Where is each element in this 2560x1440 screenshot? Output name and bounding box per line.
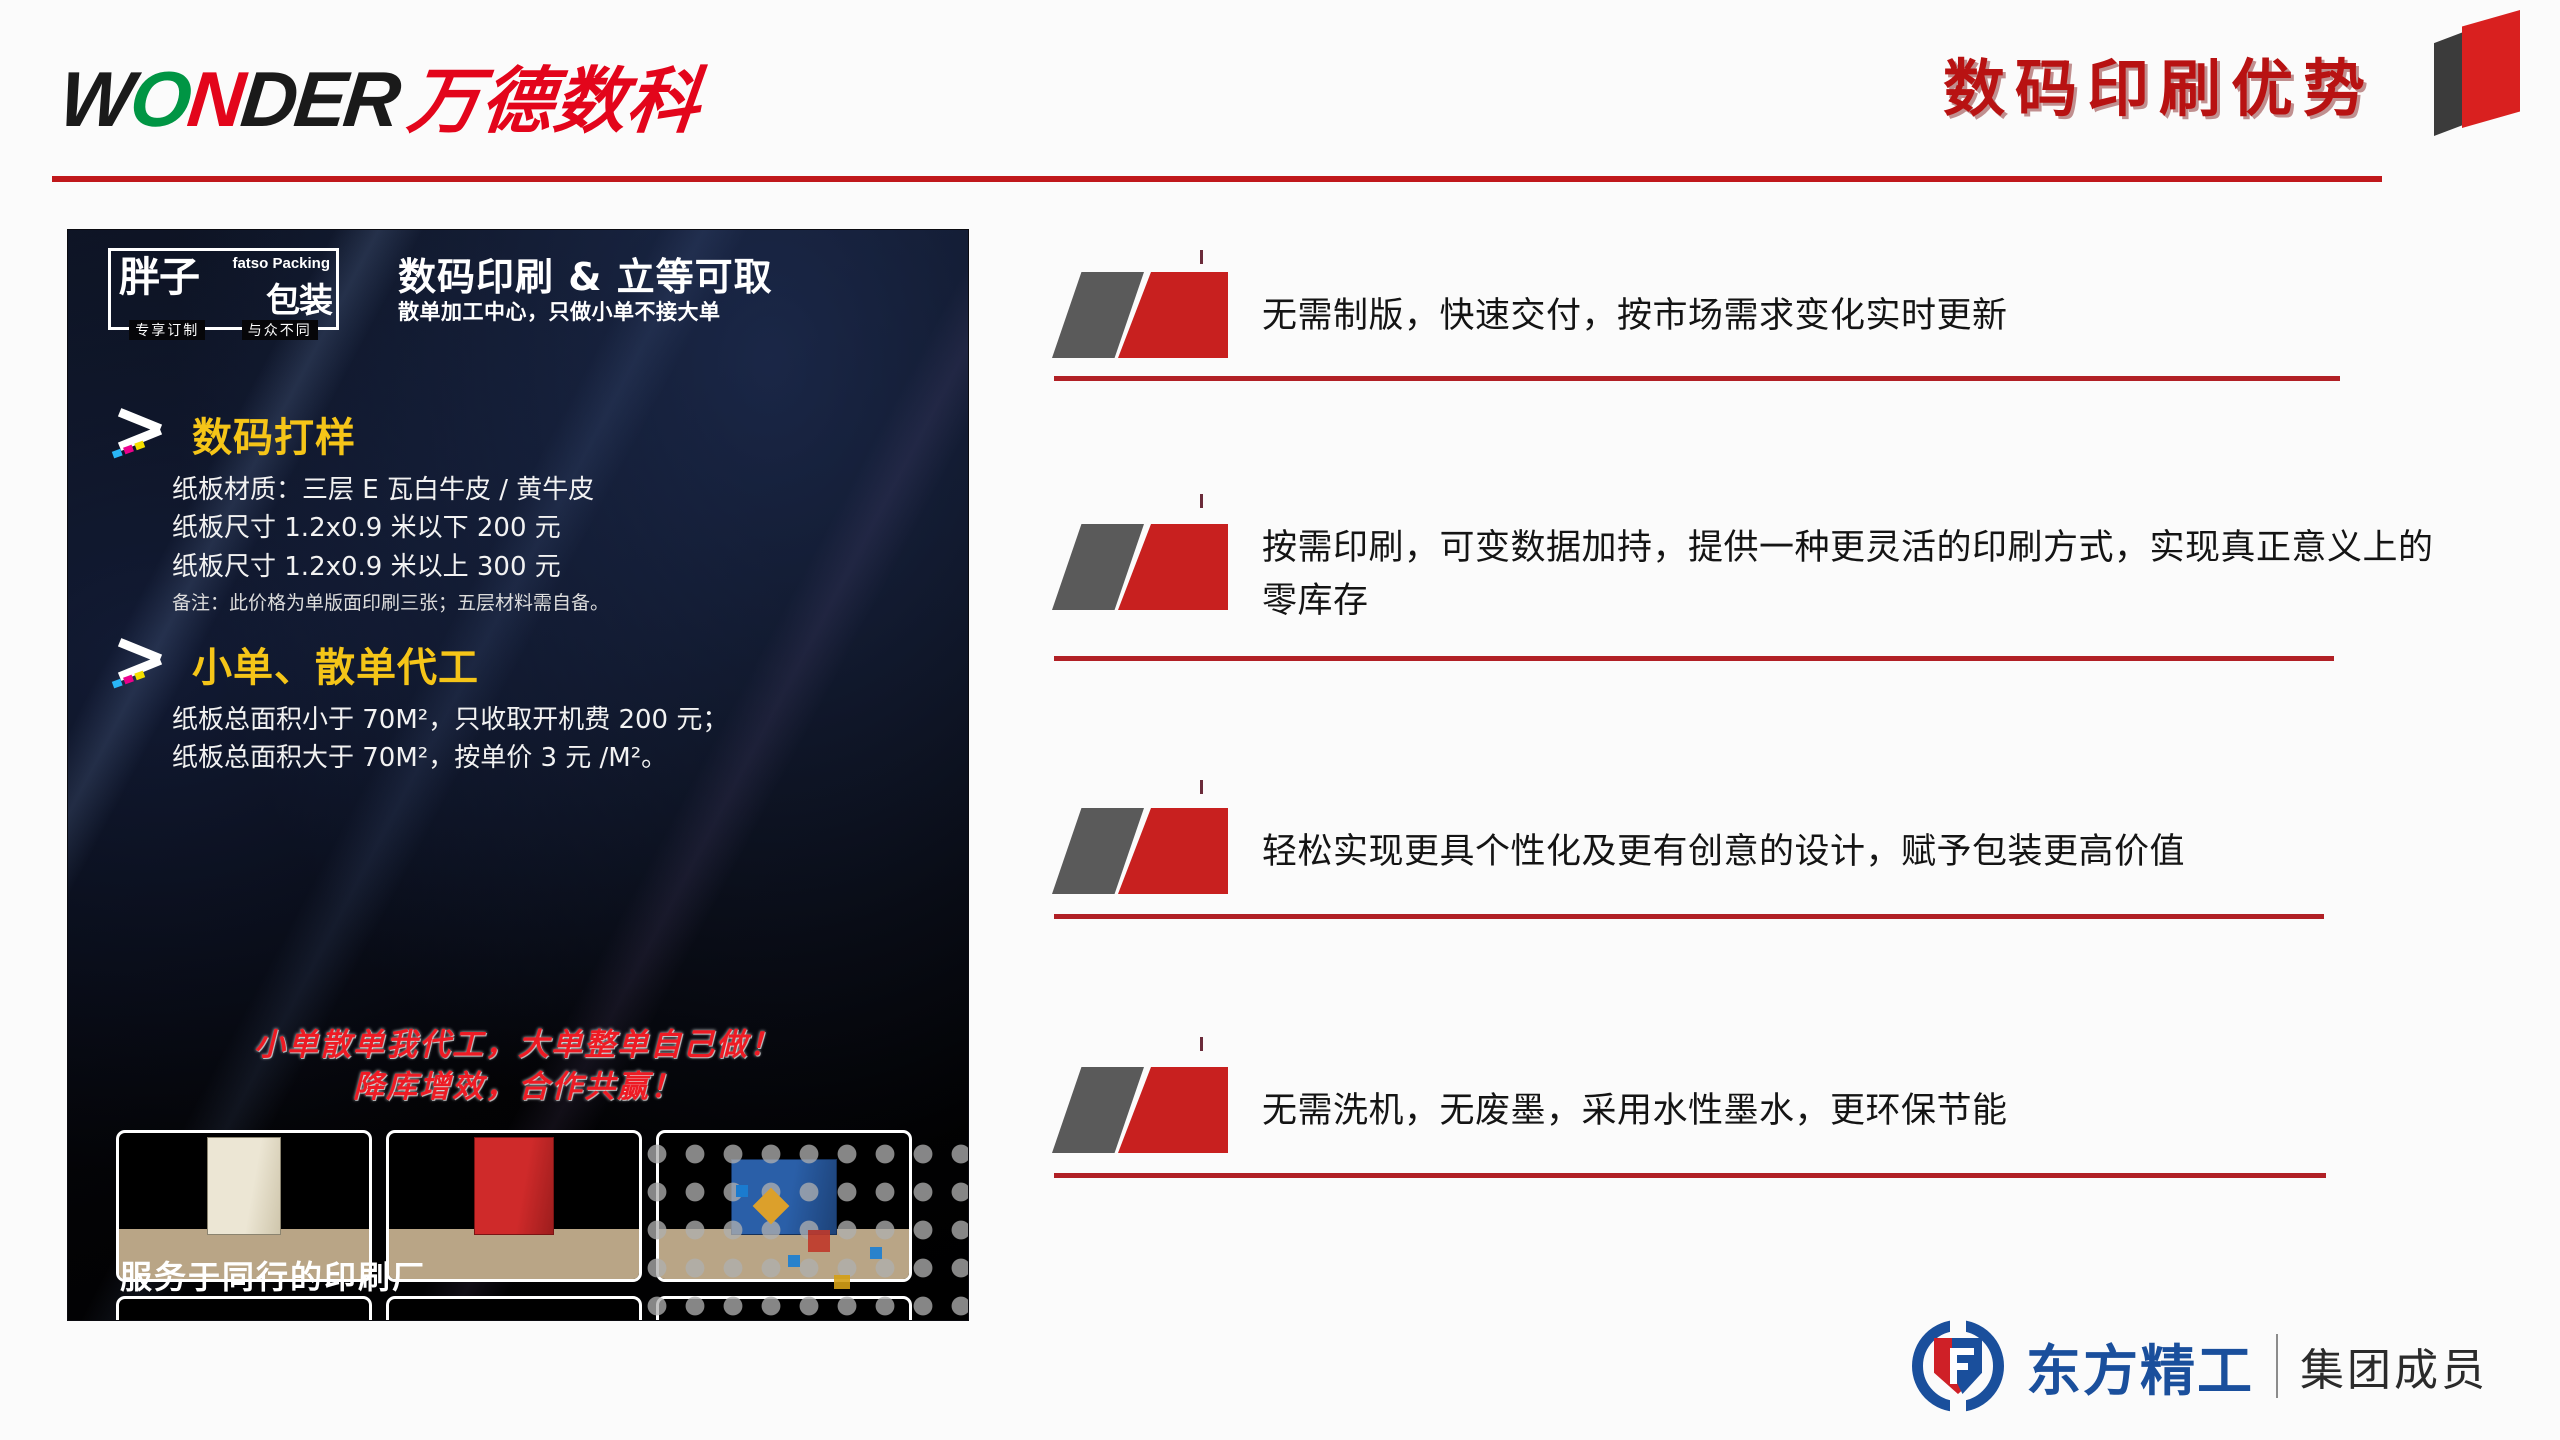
slide-root: WONDER 万德数科 数码印刷优势 胖子 fatso Packing 包装 专… [0,0,2560,1440]
dongfang-shield-icon [1912,1320,2004,1412]
advantage-underline [1054,1173,2326,1178]
fatso-logo-taglines: 专享订制 与众不同 [111,320,336,340]
promo-poster: 胖子 fatso Packing 包装 专享订制 与众不同 数码印刷 & 立等可… [68,230,968,1320]
bullet-tick-icon [1200,1037,1203,1051]
section-line: 纸板总面积大于 70M²，按单价 3 元 /M²。 [172,739,728,777]
advantage-text: 按需印刷，可变数据加持，提供一种更灵活的印刷方式，实现真正意义上的零库存 [1262,522,2442,628]
section-lines: 纸板材质：三层 E 瓦白牛皮 / 黄牛皮 纸板尺寸 1.2x0.9 米以下 20… [172,471,609,586]
corner-mark-front [2462,10,2520,128]
chevron-marker-icon [1052,524,1252,610]
fatso-logo-english: fatso Packing [232,255,330,272]
chevron-marker-icon [1052,1067,1252,1153]
fatso-tag-right: 与众不同 [242,320,318,340]
poster-section-small-order-oem: 小单、散单代工 纸板总面积小于 70M²，只收取开机费 200 元； 纸板总面积… [110,635,728,778]
section-note: 备注：此价格为单版面印刷三张；五层材料需自备。 [172,588,609,615]
advantage-underline [1054,376,2340,381]
chevron-marker-icon [1052,272,1252,358]
company-name: 东方精工 [2026,1326,2254,1406]
logo-divider [2276,1334,2278,1398]
wonder-letters-der: DER [237,55,402,143]
poster-headline: 数码印刷 & 立等可取 [398,246,773,301]
wonder-brand-logo: WONDER 万德数科 [60,42,701,147]
poster-header: 胖子 fatso Packing 包装 专享订制 与众不同 数码印刷 & 立等可… [68,230,968,338]
product-photo [116,1296,372,1320]
advantage-item[interactable]: 无需洗机，无废墨，采用水性墨水，更环保节能 [1020,1045,2450,1275]
section-line: 纸板材质：三层 E 瓦白牛皮 / 黄牛皮 [172,471,609,509]
fatso-logo-main: 胖子 [119,257,199,298]
bullet-tick-icon [1200,250,1203,264]
section-heading: 数码打样 [110,405,609,463]
bullet-tick-icon [1200,780,1203,794]
fatso-logo-pack: 包装 [266,273,332,322]
section-lines: 纸板总面积小于 70M²，只收取开机费 200 元； 纸板总面积大于 70M²，… [172,701,728,778]
advantage-underline [1054,914,2324,919]
brand-chinese-name: 万德数科 [404,42,707,147]
wonder-letter-o: O [126,55,193,143]
poster-slogan: 小单散单我代工，大单整单自己做！ 降库增效，合作共赢！ [68,1025,968,1109]
cmyk-arrow-icon [110,410,176,458]
fatso-logo: 胖子 fatso Packing 包装 专享订制 与众不同 [108,248,339,330]
wonder-letter-w: W [55,55,135,143]
product-photo [386,1296,642,1320]
slide-header: WONDER 万德数科 数码印刷优势 [0,0,2560,175]
section-title: 数码打样 [192,405,356,463]
cmyk-arrow-icon [110,640,176,688]
corner-parallelogram-icon [2432,0,2542,140]
slogan-line-2: 降库增效，合作共赢！ [68,1067,968,1109]
group-member-logo: 东方精工 集团成员 [1912,1320,2488,1412]
halftone-dots-decor [638,1135,968,1320]
chevron-marker-icon [1052,808,1252,894]
group-member-label: 集团成员 [2300,1334,2488,1398]
section-title: 小单、散单代工 [192,635,479,693]
poster-subline: 散单加工中心，只做小单不接大单 [398,296,721,326]
poster-section-digital-proofing: 数码打样 纸板材质：三层 E 瓦白牛皮 / 黄牛皮 纸板尺寸 1.2x0.9 米… [110,405,609,615]
page-title: 数码印刷优势 [1943,38,2375,128]
fatso-tag-left: 专享订制 [129,320,205,340]
poster-footer-text: 服务于同行的印刷厂 [120,1252,426,1298]
section-line: 纸板尺寸 1.2x0.9 米以上 300 元 [172,548,609,586]
advantages-list: 无需制版，快速交付，按市场需求变化实时更新 按需印刷，可变数据加持，提供一种更灵… [1020,250,2450,1275]
advantage-text: 轻松实现更具个性化及更有创意的设计，赋予包装更高价值 [1262,826,2442,879]
advantage-text: 无需洗机，无废墨，采用水性墨水，更环保节能 [1262,1085,2442,1138]
advantage-item[interactable]: 轻松实现更具个性化及更有创意的设计，赋予包装更高价值 [1020,790,2450,1045]
advantage-underline [1054,656,2334,661]
slogan-line-1: 小单散单我代工，大单整单自己做！ [68,1025,968,1067]
wonder-letter-n: N [184,55,247,143]
advantage-item[interactable]: 无需制版，快速交付，按市场需求变化实时更新 [1020,250,2450,500]
header-divider [52,176,2382,182]
advantage-text: 无需制版，快速交付，按市场需求变化实时更新 [1262,290,2442,343]
section-heading: 小单、散单代工 [110,635,728,693]
section-line: 纸板总面积小于 70M²，只收取开机费 200 元； [172,701,728,739]
section-line: 纸板尺寸 1.2x0.9 米以下 200 元 [172,509,609,547]
bullet-tick-icon [1200,494,1203,508]
wonder-wordmark: WONDER [55,54,402,145]
advantage-item[interactable]: 按需印刷，可变数据加持，提供一种更灵活的印刷方式，实现真正意义上的零库存 [1020,500,2450,790]
